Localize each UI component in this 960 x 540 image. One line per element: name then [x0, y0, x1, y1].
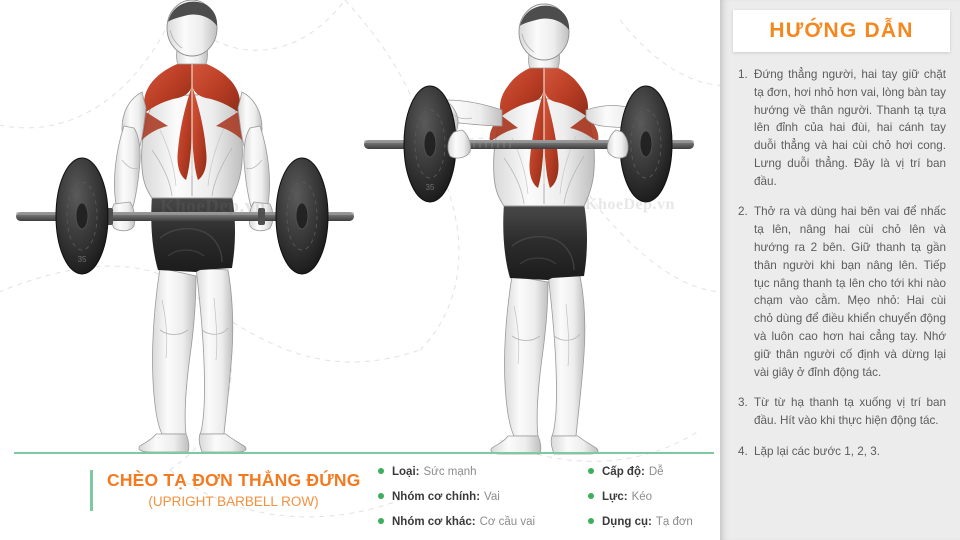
- bullet-icon: [378, 518, 384, 524]
- bullet-icon: [588, 518, 594, 524]
- plate-weight-label: 35: [78, 255, 87, 264]
- attribute-value: Tạ đơn: [656, 516, 693, 530]
- instructions-panel: HƯỚNG DẪN 1. Đứng thẳng người, hai tay g…: [720, 0, 960, 540]
- figure-start-position: 35: [10, 0, 360, 460]
- step-text: Thở ra và dùng hai bên vai để nhấc tạ lê…: [754, 203, 946, 381]
- svg-text:35: 35: [426, 183, 435, 192]
- exercise-title-vi: CHÈO TẠ ĐƠN THẲNG ĐỨNG: [107, 470, 360, 492]
- attribute-label: Nhóm cơ khác:: [392, 516, 476, 530]
- attribute-row-type: Loại: Sức mạnh: [378, 466, 568, 480]
- green-divider: [14, 452, 714, 454]
- attribute-row-primary-muscle: Nhóm cơ chính: Vai: [378, 491, 568, 505]
- bullet-icon: [588, 493, 594, 499]
- guide-heading: HƯỚNG DẪN: [769, 19, 913, 43]
- guide-step: 4. Lặp lại các bước 1, 2, 3.: [738, 443, 946, 461]
- attribute-value: Sức mạnh: [423, 466, 476, 480]
- figure-lifted-position: 35: [350, 0, 710, 460]
- bullet-icon: [378, 493, 384, 499]
- attribute-column-1: Loại: Sức mạnh Nhóm cơ chính: Vai Nhóm c…: [378, 466, 568, 540]
- attribute-label: Nhóm cơ chính:: [392, 491, 480, 505]
- step-number: 1.: [738, 66, 754, 190]
- step-number: 3.: [738, 394, 754, 430]
- attribute-row-secondary-muscle: Nhóm cơ khác: Cơ cầu vai: [378, 516, 568, 530]
- guide-step: 1. Đứng thẳng người, hai tay giữ chặt tạ…: [738, 66, 946, 190]
- guide-steps-list: 1. Đứng thẳng người, hai tay giữ chặt tạ…: [738, 66, 946, 474]
- bullet-icon: [378, 468, 384, 474]
- attribute-label: Cấp độ:: [602, 466, 645, 480]
- exercise-footer: CHÈO TẠ ĐƠN THẲNG ĐỨNG (UPRIGHT BARBELL …: [0, 460, 720, 540]
- step-number: 2.: [738, 203, 754, 381]
- watermark-left: KhoeDep.vn: [160, 196, 266, 218]
- attribute-value: Kéo: [632, 491, 652, 505]
- attribute-label: Dụng cụ:: [602, 516, 652, 530]
- infographic-root: 35: [0, 0, 960, 540]
- step-number: 4.: [738, 443, 754, 461]
- step-text: Đứng thẳng người, hai tay giữ chặt tạ đơ…: [754, 66, 946, 190]
- exercise-title-block: CHÈO TẠ ĐƠN THẲNG ĐỨNG (UPRIGHT BARBELL …: [90, 470, 360, 511]
- bullet-icon: [588, 468, 594, 474]
- guide-step: 3. Từ từ hạ thanh tạ xuống vị trí ban đầ…: [738, 394, 946, 430]
- attribute-value: Dễ: [649, 466, 664, 480]
- attribute-label: Loại:: [392, 466, 419, 480]
- attribute-value: Vai: [484, 491, 500, 505]
- guide-heading-card: HƯỚNG DẪN: [733, 10, 950, 52]
- step-text: Lặp lại các bước 1, 2, 3.: [754, 443, 946, 461]
- illustration-panel: 35: [0, 0, 720, 540]
- guide-step: 2. Thở ra và dùng hai bên vai để nhấc tạ…: [738, 203, 946, 381]
- attribute-label: Lực:: [602, 491, 628, 505]
- exercise-title-en: (UPRIGHT BARBELL ROW): [107, 493, 360, 511]
- attribute-value: Cơ cầu vai: [480, 516, 535, 530]
- watermark-right: KhoeDep.vn: [585, 196, 675, 214]
- step-text: Từ từ hạ thanh tạ xuống vị trí ban đầu. …: [754, 394, 946, 430]
